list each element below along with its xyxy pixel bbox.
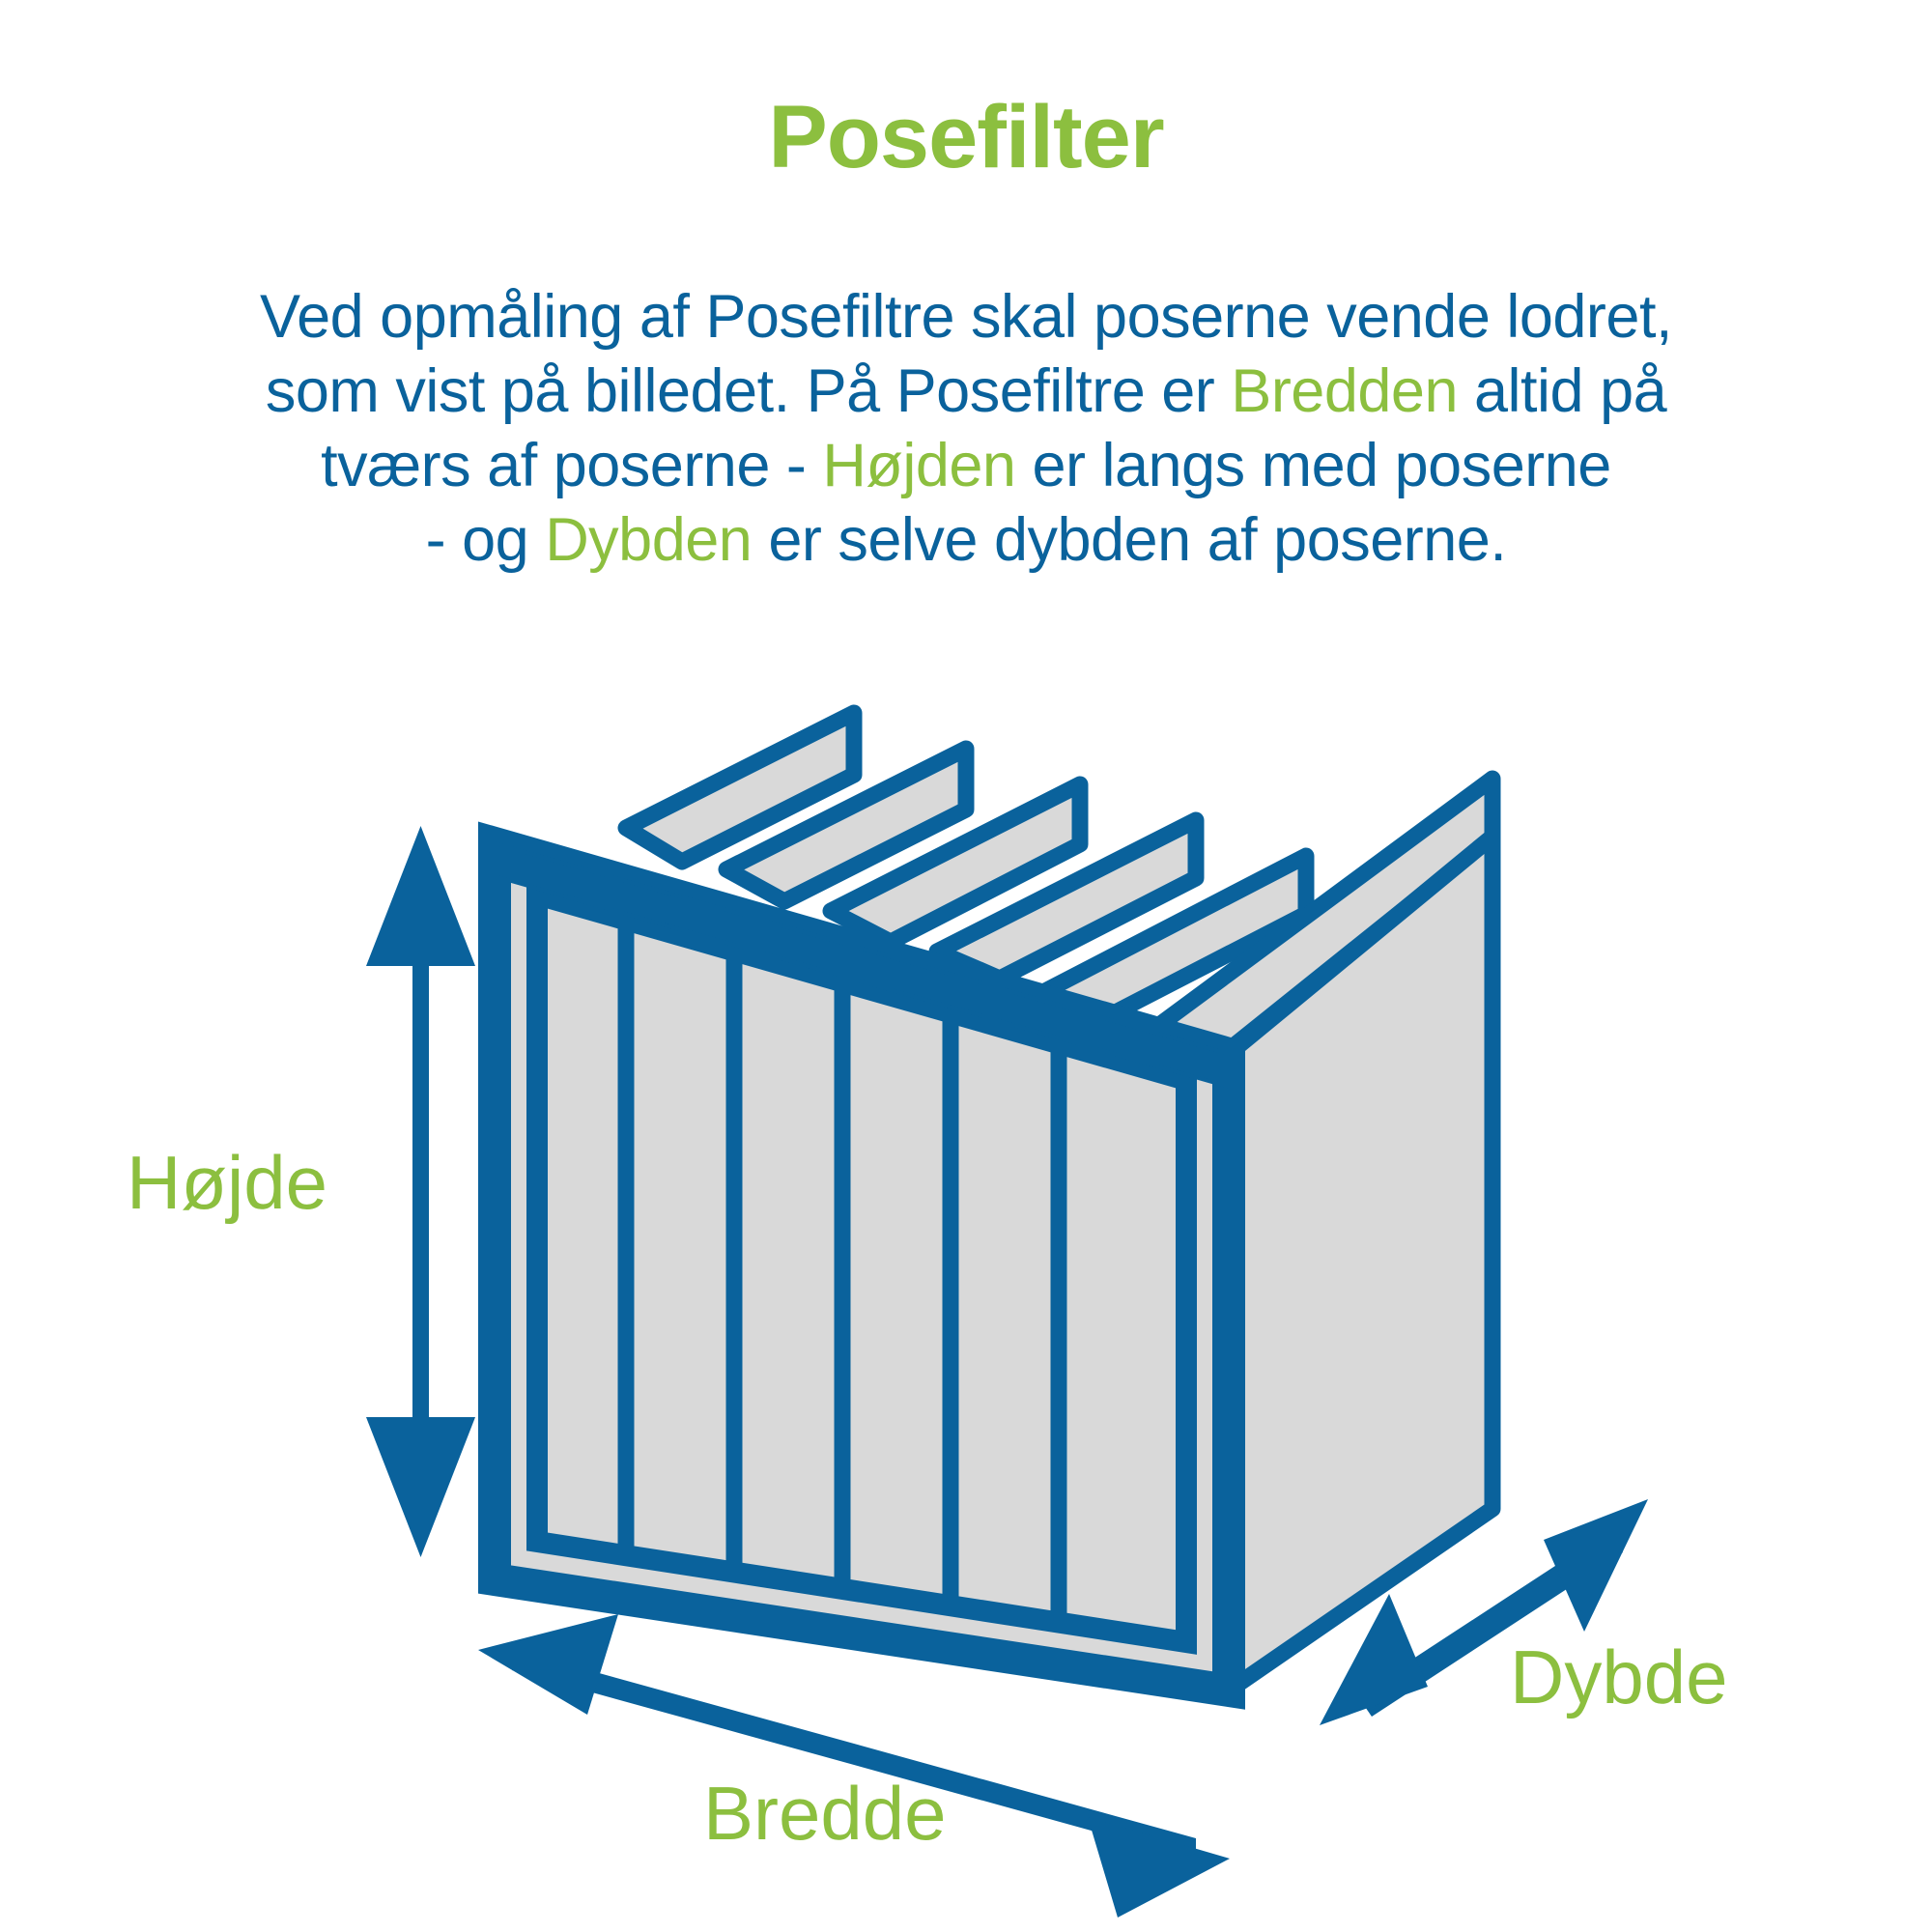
height-arrow-head-up (366, 826, 475, 966)
height-arrow-head-down (366, 1417, 475, 1557)
poster-root: Posefilter Ved opmåling af Posefiltre sk… (0, 0, 1932, 1932)
dimension-label-width: Bredde (703, 1776, 947, 1851)
height-arrow (366, 826, 475, 1557)
dimension-label-height: Højde (127, 1145, 327, 1220)
dimension-label-depth: Dybde (1510, 1639, 1727, 1715)
width-arrow-head-left (478, 1614, 618, 1715)
depth-arrow-head-upper-right (1544, 1499, 1648, 1632)
